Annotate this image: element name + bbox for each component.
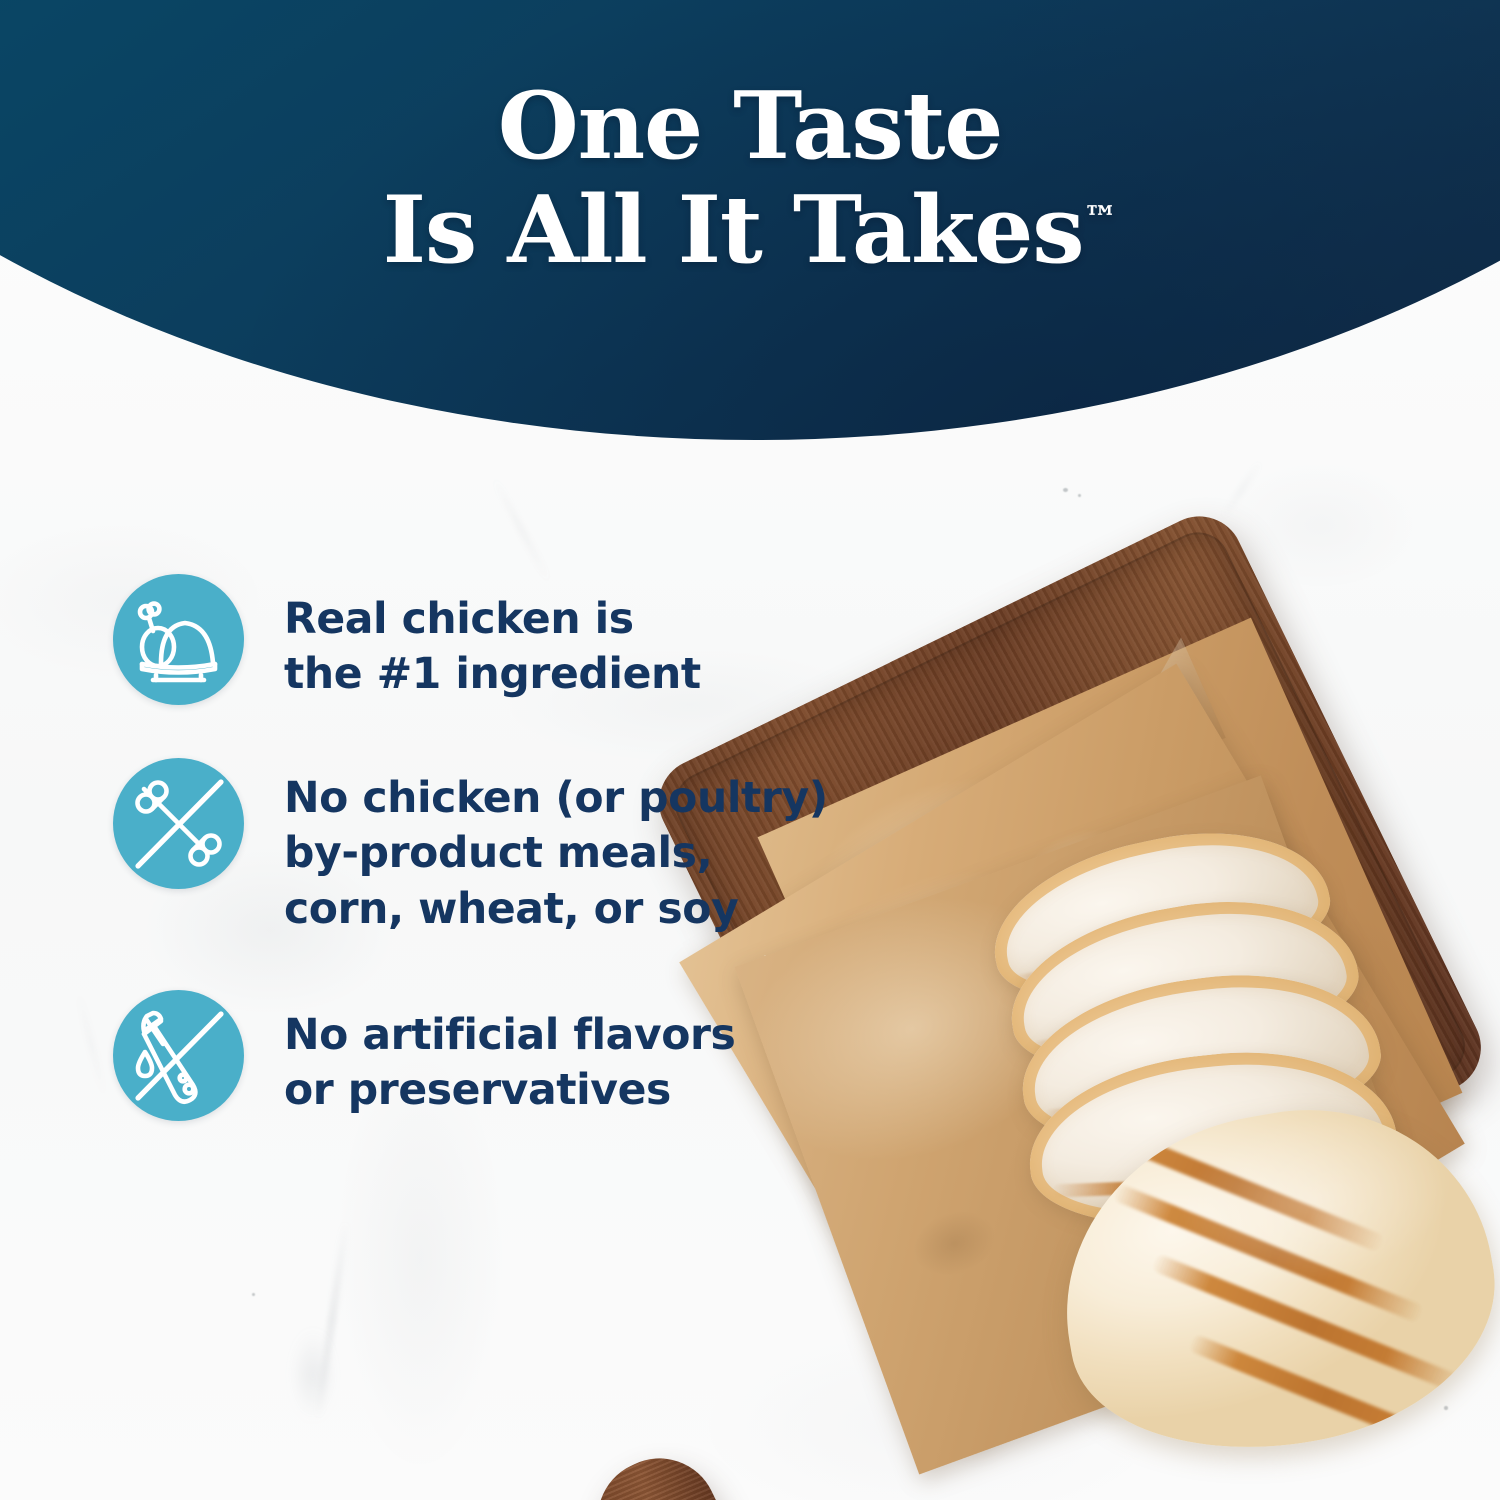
marble-speck bbox=[1063, 488, 1068, 492]
marble-vein bbox=[300, 1330, 326, 1420]
roast-chicken-on-platter-icon bbox=[113, 574, 244, 705]
headline-line-1: One Taste bbox=[498, 71, 1002, 180]
headline-line-2-text: Is All It Takes bbox=[383, 175, 1084, 284]
no-bone-prohibited-icon bbox=[113, 758, 244, 889]
benefit-item-no-artificial: No artificial flavors or preservatives bbox=[113, 990, 903, 1121]
benefit-item-real-chicken: Real chicken is the #1 ingredient bbox=[113, 574, 903, 705]
benefit-badge bbox=[113, 990, 244, 1121]
no-test-tube-prohibited-icon bbox=[113, 990, 244, 1121]
trademark-symbol: ™ bbox=[1083, 199, 1117, 239]
benefit-badge bbox=[113, 574, 244, 705]
benefit-badge bbox=[113, 758, 244, 889]
benefit-text: No artificial flavors or preservatives bbox=[284, 990, 735, 1119]
marble-speck bbox=[252, 1293, 255, 1296]
benefit-item-no-byproduct: No chicken (or poultry) by-product meals… bbox=[113, 758, 903, 937]
product-benefits-graphic: One Taste Is All It Takes™ bbox=[0, 0, 1500, 1500]
benefits-list: Real chicken is the #1 ingredient bbox=[113, 574, 903, 1121]
benefit-text: Real chicken is the #1 ingredient bbox=[284, 574, 701, 703]
headline-line-2: Is All It Takes™ bbox=[0, 182, 1500, 278]
marble-speck bbox=[1078, 494, 1081, 497]
page-title: One Taste Is All It Takes™ bbox=[0, 78, 1500, 278]
benefit-text: No chicken (or poultry) by-product meals… bbox=[284, 758, 828, 937]
